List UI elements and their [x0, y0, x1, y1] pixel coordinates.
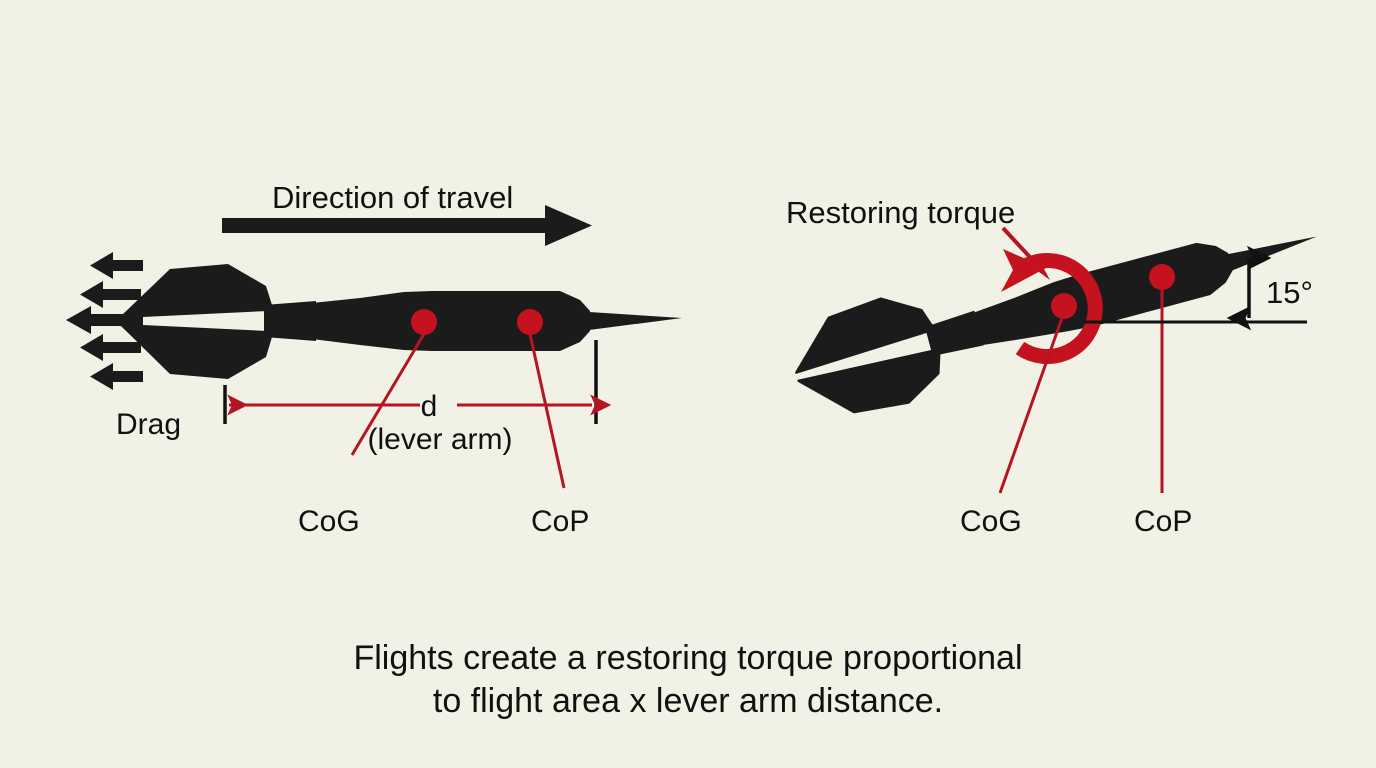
dart-physics-diagram: Direction of travel [0, 0, 1376, 768]
diagram-canvas: Direction of travel [0, 0, 1376, 768]
angle-label: 15° [1266, 275, 1313, 310]
left-cop-label: CoP [531, 505, 589, 538]
dart-barrel [312, 291, 590, 351]
lever-arm-symbol: d [421, 390, 438, 423]
restoring-torque-label: Restoring torque [786, 195, 1015, 230]
dart-shaft [264, 301, 316, 341]
right-cop-label: CoP [1134, 505, 1192, 538]
cog-marker-dot [411, 309, 437, 335]
drag-label: Drag [116, 408, 181, 441]
right-cog-label: CoG [960, 505, 1022, 538]
caption-line-2: to flight area x lever arm distance. [433, 682, 943, 720]
cog-marker-dot-tilted [1051, 293, 1077, 319]
left-cog-label: CoG [298, 505, 360, 538]
caption-line-1: Flights create a restoring torque propor… [353, 639, 1022, 677]
cop-marker-dot-tilted [1149, 264, 1175, 290]
direction-of-travel-label: Direction of travel [272, 180, 513, 215]
cop-marker-dot [517, 309, 543, 335]
lever-arm-sublabel: (lever arm) [367, 423, 512, 456]
